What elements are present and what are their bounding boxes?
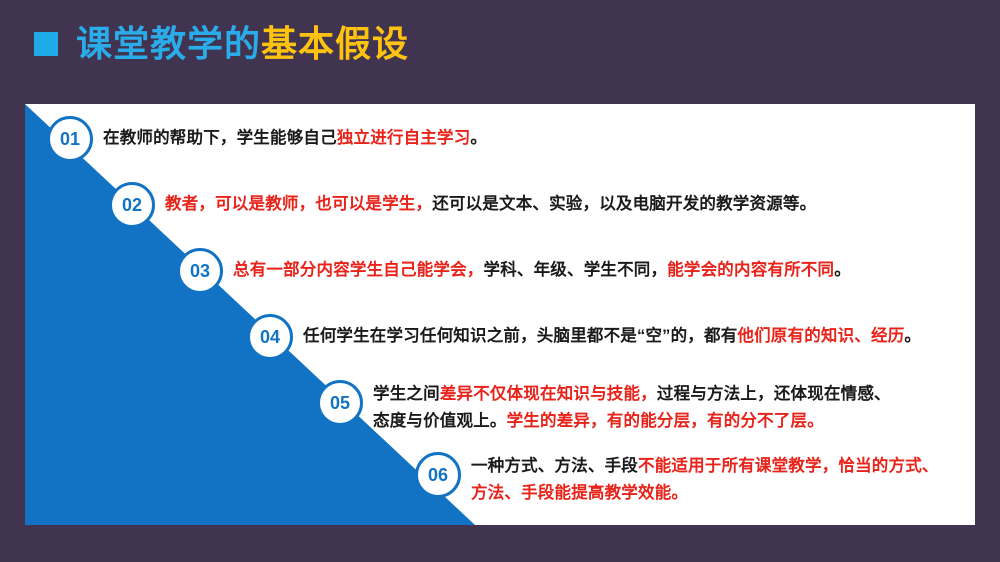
item-text-line: 方法、手段能提高教学效能。 <box>471 480 939 507</box>
text-segment: 一种方式、方法、手段 <box>471 457 638 475</box>
text-segment-highlight: 方法、手段能提高教学效能。 <box>471 484 688 502</box>
item-number: 03 <box>177 248 223 294</box>
text-segment-highlight: 他们原有的知识、经历 <box>737 327 904 345</box>
item-text: 教者，可以是教师，也可以是学生，还可以是文本、实验，以及电脑开发的教学资源等。 <box>165 182 816 218</box>
item-text: 任何学生在学习任何知识之前，头脑里都不是“空”的，都有他们原有的知识、经历。 <box>303 314 921 350</box>
list-item[interactable]: 04 任何学生在学习任何知识之前，头脑里都不是“空”的，都有他们原有的知识、经历… <box>247 314 921 360</box>
item-text-line: 一种方式、方法、手段不能适用于所有课堂教学，恰当的方式、 <box>471 453 939 480</box>
item-number: 02 <box>109 182 155 228</box>
list-item[interactable]: 05 学生之间差异不仅体现在知识与技能，过程与方法上，还体现在情感、态度与价值观… <box>317 380 891 434</box>
item-number-badge: 05 <box>317 380 363 426</box>
assumption-list: 01 在教师的帮助下，学生能够自己独立进行自主学习。 02 教者，可以是教师，也… <box>25 104 975 525</box>
item-number: 04 <box>247 314 293 360</box>
item-number-badge: 06 <box>415 452 461 498</box>
text-segment-highlight: 能学会的内容有所不同 <box>667 261 834 279</box>
item-text: 在教师的帮助下，学生能够自己独立进行自主学习。 <box>103 116 487 152</box>
text-segment: 任何学生在学习任何知识之前，头脑里都不是“空”的，都有 <box>303 327 737 345</box>
text-segment: 态度与价值观上。 <box>373 412 507 430</box>
text-segment: 在教师的帮助下，学生能够自己 <box>103 129 337 147</box>
text-segment: 学科、年级、学生不同， <box>484 261 668 279</box>
text-segment-highlight: 学生的差异，有的能分层，有的分不了层。 <box>507 412 824 430</box>
item-number-badge: 01 <box>47 116 93 162</box>
text-segment-highlight: 差异不仅体现在知识与技能， <box>440 385 657 403</box>
title-text: 课堂教学的基本假设 <box>76 26 409 62</box>
list-item[interactable]: 03 总有一部分内容学生自己能学会，学科、年级、学生不同，能学会的内容有所不同。 <box>177 248 851 294</box>
slide: 课堂教学的基本假设 01 在教师的帮助下，学生能够自己独立进行自主学习。 02 <box>0 0 1000 562</box>
text-segment: 过程与方法上，还体现在情感、 <box>657 385 891 403</box>
text-segment-highlight: 不能适用于所有课堂教学，恰当的方式、 <box>638 457 939 475</box>
text-segment-highlight: 教者，可以是教师，也可以是学生， <box>165 195 432 213</box>
text-segment-highlight: 总有一部分内容学生自己能学会， <box>233 261 484 279</box>
list-item[interactable]: 06 一种方式、方法、手段不能适用于所有课堂教学，恰当的方式、方法、手段能提高教… <box>415 452 939 506</box>
title-part-emphasis: 基本假设 <box>261 23 409 64</box>
list-item[interactable]: 01 在教师的帮助下，学生能够自己独立进行自主学习。 <box>47 116 487 162</box>
list-item[interactable]: 02 教者，可以是教师，也可以是学生，还可以是文本、实验，以及电脑开发的教学资源… <box>109 182 816 228</box>
item-number-badge: 02 <box>109 182 155 228</box>
title-part-normal: 课堂教学的 <box>76 23 261 64</box>
text-segment: 。 <box>470 129 487 147</box>
page-title: 课堂教学的基本假设 <box>34 18 409 70</box>
square-bullet-icon <box>34 32 58 56</box>
item-number-badge: 04 <box>247 314 293 360</box>
text-segment: 学生之间 <box>373 385 440 403</box>
item-number: 06 <box>415 452 461 498</box>
item-number: 01 <box>47 116 93 162</box>
item-number: 05 <box>317 380 363 426</box>
item-text: 一种方式、方法、手段不能适用于所有课堂教学，恰当的方式、方法、手段能提高教学效能… <box>471 452 939 506</box>
text-segment: 。 <box>904 327 921 345</box>
content-card: 01 在教师的帮助下，学生能够自己独立进行自主学习。 02 教者，可以是教师，也… <box>25 104 975 525</box>
item-text-line: 态度与价值观上。学生的差异，有的能分层，有的分不了层。 <box>373 408 891 435</box>
text-segment-highlight: 独立进行自主学习 <box>337 129 471 147</box>
item-text: 总有一部分内容学生自己能学会，学科、年级、学生不同，能学会的内容有所不同。 <box>233 248 851 284</box>
text-segment: 。 <box>834 261 851 279</box>
item-text: 学生之间差异不仅体现在知识与技能，过程与方法上，还体现在情感、态度与价值观上。学… <box>373 380 891 434</box>
item-text-line: 学生之间差异不仅体现在知识与技能，过程与方法上，还体现在情感、 <box>373 381 891 408</box>
text-segment: 还可以是文本、实验，以及电脑开发的教学资源等。 <box>432 195 816 213</box>
item-number-badge: 03 <box>177 248 223 294</box>
